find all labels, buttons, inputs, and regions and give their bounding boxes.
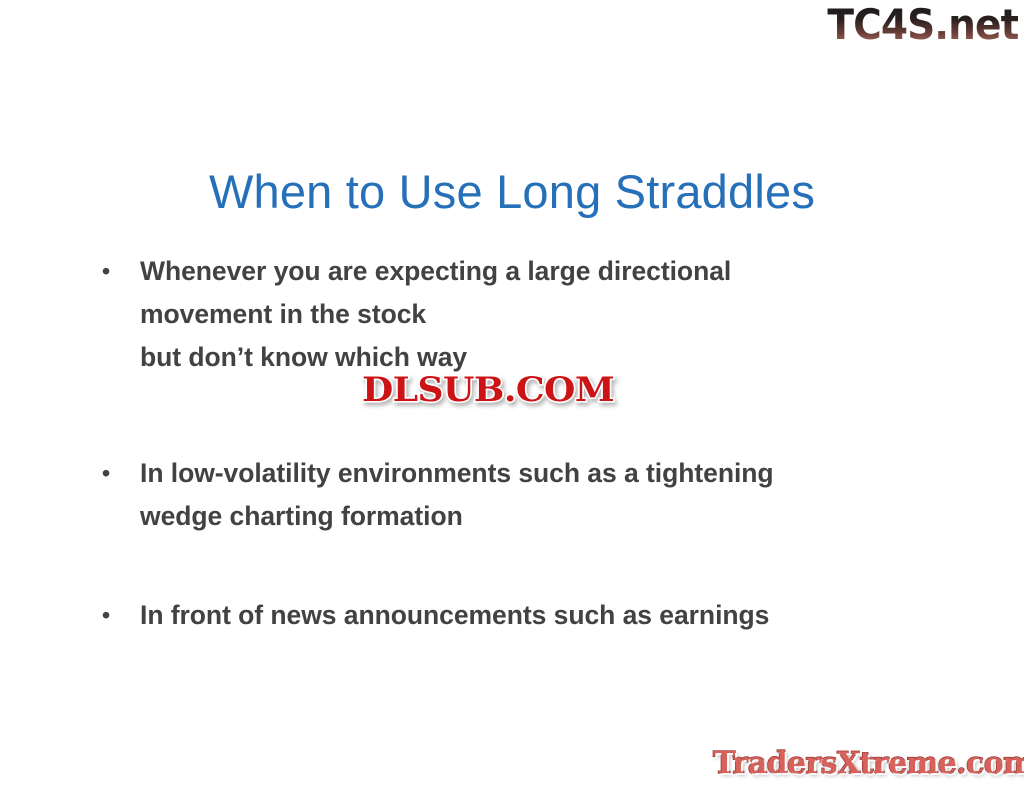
tc4s-site-logo: TC4S.net <box>827 2 1018 48</box>
bullet-list: Whenever you are expecting a large direc… <box>96 250 946 637</box>
slide-canvas: TC4S.net When to Use Long Straddles When… <box>0 0 1024 791</box>
dlsub-watermark-text: DLSUB.COM <box>362 370 614 410</box>
list-item: In low-volatility environments such as a… <box>96 452 946 538</box>
list-item: In front of news announcements such as e… <box>96 594 946 637</box>
dlsub-watermark: DLSUB.COM <box>362 370 614 410</box>
page-title: When to Use Long Straddles <box>0 163 1024 221</box>
tradersxtreme-logo: TradersXtreme.com <box>713 745 1024 783</box>
list-item: Whenever you are expecting a large direc… <box>96 250 946 379</box>
